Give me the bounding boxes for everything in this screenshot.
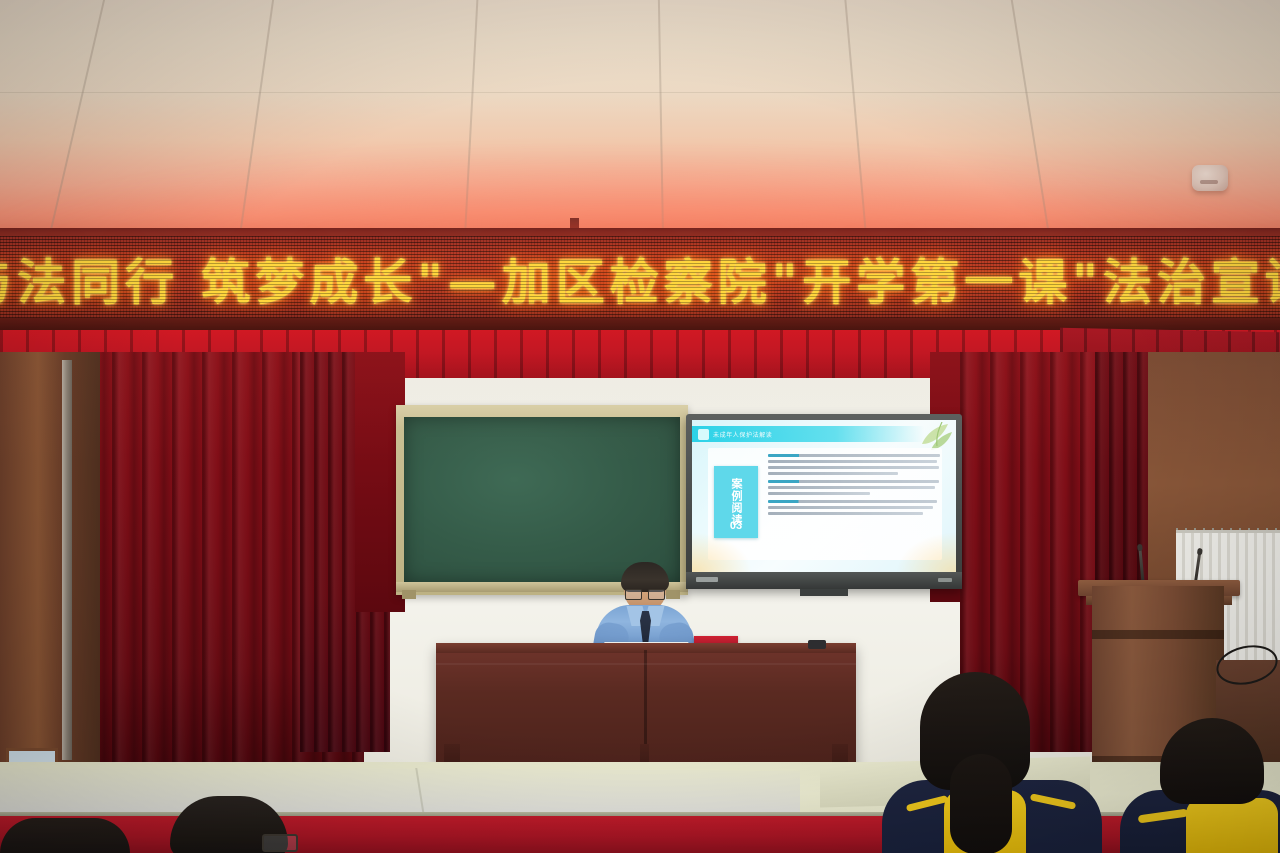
slide-badge-icon <box>698 429 709 440</box>
slide-header-text: 未成年人保护法解读 <box>713 430 772 439</box>
blackboard-tray-left <box>402 590 416 599</box>
photo-scene: 与法同行 筑梦成长"—加区检察院"开学第一课"法治宣讲 未成年人保护法解读 <box>0 0 1280 853</box>
smoke-detector-icon <box>1192 165 1228 191</box>
smart-board-indicator <box>938 578 952 582</box>
slide-corner-glow-left <box>692 532 752 572</box>
smart-board-stand <box>800 589 848 596</box>
student-uniform-vest <box>1186 798 1278 853</box>
blackboard <box>404 417 680 582</box>
student-right-ponytail <box>890 672 1100 853</box>
slide-chip-label: 案例阅读 <box>730 478 742 526</box>
student-far-left <box>0 818 140 853</box>
student-ponytail <box>950 754 1012 853</box>
slide-chip-number: 03 <box>714 520 758 532</box>
slide-case-chip: 案例阅读 03 <box>714 466 758 538</box>
slide-paragraph <box>768 480 944 495</box>
smart-board-screen[interactable]: 未成年人保护法解读 案例阅读 03 <box>692 420 956 572</box>
student-hair <box>1160 718 1264 804</box>
student-hair <box>0 818 130 853</box>
led-banner-text: 与法同行 筑梦成长"—加区检察院"开学第一课"法治宣讲 <box>0 244 1280 312</box>
slide-corner-glow-right <box>896 532 956 572</box>
slide-paragraph <box>768 454 944 475</box>
slide-paragraphs <box>768 454 944 520</box>
smart-board-bottom-bar <box>686 572 962 589</box>
speaker-hair <box>621 562 669 592</box>
student-far-right <box>1130 718 1280 853</box>
smart-board-logo <box>696 577 718 582</box>
door-mullion <box>62 360 72 760</box>
head-table-edge-line <box>436 663 856 665</box>
slide-header-bar: 未成年人保护法解读 <box>692 426 924 442</box>
student-front-left <box>150 796 320 853</box>
podium-band-upper <box>1092 630 1224 639</box>
student-glasses-icon <box>262 834 298 852</box>
glasses-icon <box>625 589 665 598</box>
door-frame[interactable] <box>0 352 100 772</box>
ceiling-seam <box>0 92 1280 93</box>
slide-paragraph <box>768 500 944 515</box>
desk-remote-control[interactable] <box>808 640 826 649</box>
